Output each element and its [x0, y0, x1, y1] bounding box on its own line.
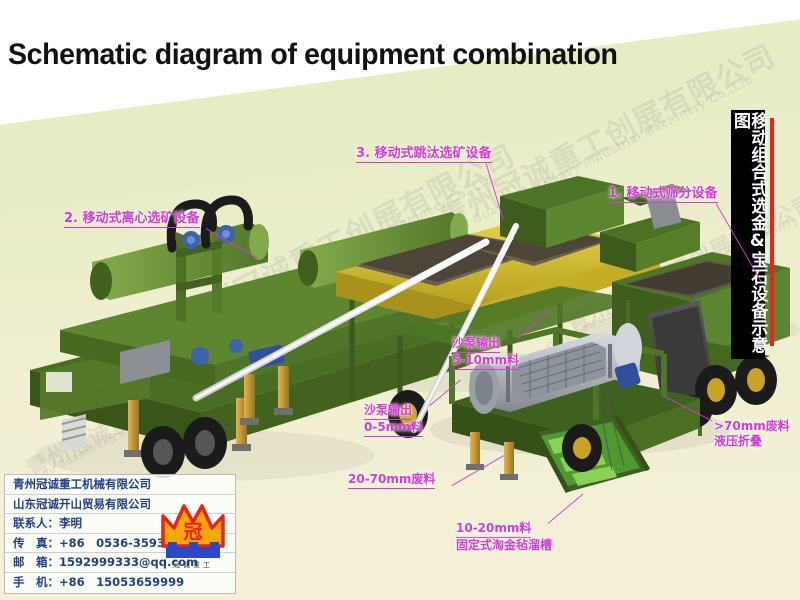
callout-screening-label: 1. 移动式筛分设备 [608, 182, 718, 203]
company-logo: 冠 冠诚重工 [160, 502, 226, 574]
callout-sluice-10-20-line2: 固定式淘金毡溜槽 [456, 538, 552, 553]
contact-mobile: 手 机：+86 15053659999 [5, 573, 235, 592]
callout-pump-5-10: 沙泵输出 5-10mm料 [452, 336, 519, 370]
callout-waste-over-70-line1: >70mm废料 [714, 419, 790, 433]
callout-pump-0-5-line1: 沙泵输出 [364, 403, 412, 420]
logo-base [166, 547, 220, 558]
callout-pump-5-10-line1: 沙泵输出 [452, 336, 500, 353]
callout-jig-label: 3. 移动式跳汰选矿设备 [356, 142, 492, 163]
callout-waste-20-70: 20-70mm废料 [348, 470, 435, 489]
callout-screening: 1. 移动式筛分设备 [608, 182, 718, 203]
callout-pump-0-5-line2: 0-5mm料 [364, 420, 423, 437]
callout-sluice-10-20-line1: 10-20mm料 [456, 521, 531, 538]
callout-centrifugal-label: 2. 移动式离心选矿设备 [64, 207, 200, 228]
callout-sluice-10-20: 10-20mm料 固定式淘金毡溜槽 [456, 521, 552, 553]
crown-mark: 冠 [183, 521, 202, 543]
vertical-banner: 移动组合式选金&宝石设备示意图 [731, 110, 765, 359]
callout-waste-over-70-line2: 液压折叠 [714, 434, 790, 449]
schematic-canvas: 青州冠诚重工创展有限公司 Qingzhou Guancheng Heavy In… [0, 0, 800, 600]
callout-pump-0-5: 沙泵输出 0-5mm料 [364, 403, 423, 437]
banner-accent-line [770, 118, 774, 346]
logo-caption: 冠诚重工 [162, 560, 224, 570]
page-title: Schematic diagram of equipment combinati… [8, 38, 618, 72]
callout-jig: 3. 移动式跳汰选矿设备 [356, 142, 492, 163]
vertical-banner-text: 移动组合式选金&宝石设备示意图 [731, 112, 766, 357]
callout-waste-over-70: >70mm废料 液压折叠 [714, 419, 790, 449]
callout-pump-5-10-line2: 5-10mm料 [452, 353, 519, 370]
callout-centrifugal: 2. 移动式离心选矿设备 [64, 207, 200, 228]
contact-company-1: 青州冠诚重工机械有限公司 [5, 475, 235, 495]
callout-waste-20-70-label: 20-70mm废料 [348, 470, 435, 489]
